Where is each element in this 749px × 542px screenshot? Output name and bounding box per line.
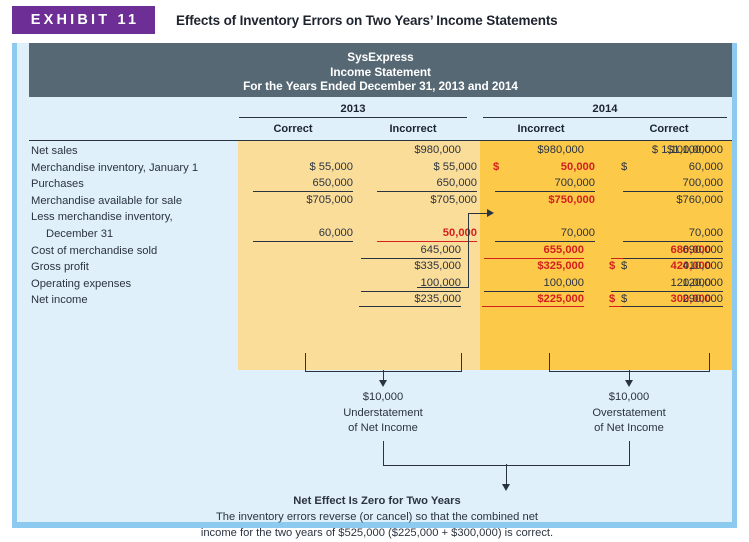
value-2014-correct-avail: $760,000 — [615, 193, 723, 210]
value-2013-correct-inv-jan1: $ 55,000 — [245, 160, 353, 177]
blank-cell — [245, 243, 353, 260]
row-label: Net income — [31, 292, 236, 309]
net-effect-note: Net Effect Is Zero for Two Years The inv… — [112, 493, 642, 542]
company-name: SysExpress — [29, 50, 732, 65]
value-2014-correct-gross-profit: $410,000 — [615, 259, 723, 276]
value-2013-correct-inv-dec31: 60,000 — [245, 226, 353, 243]
row-label: Less merchandise inventory, — [31, 209, 236, 226]
column-header-rule — [29, 140, 732, 141]
value-2014-incorrect-avail: $750,000 — [487, 193, 595, 210]
value-2013-incorrect-inv-jan1: $ 55,000 — [369, 160, 477, 177]
blank-cell — [369, 243, 477, 260]
value-2014-correct-purchases: 700,000 — [615, 176, 723, 193]
currency-symbol: $ — [621, 259, 627, 274]
exhibit-panel-inner: SysExpress Income Statement For the Year… — [17, 43, 732, 522]
numbers-2014-correct-inner: $1,100,000 $60,000 700,000 $760,000 70,0… — [615, 143, 723, 309]
row-label: Merchandise available for sale — [31, 193, 236, 210]
row-label: Merchandise inventory, January 1 — [31, 160, 236, 177]
row-label-column: Net sales Merchandise inventory, January… — [31, 143, 236, 309]
caption-overstatement: $10,000 Overstatement of Net Income — [544, 390, 714, 437]
caption-amount: $10,000 — [298, 390, 468, 406]
bracket-net-effect-left-leg — [383, 441, 384, 465]
value-2014-correct-inv-dec31: 70,000 — [615, 226, 723, 243]
row-label: Cost of merchandise sold — [31, 243, 236, 260]
amount: 60,000 — [689, 161, 723, 173]
value-2013-correct-purchases: 650,000 — [245, 176, 353, 193]
arrow-down-icon — [625, 380, 633, 387]
value-2014-correct-net-sales: $1,100,000 — [615, 143, 723, 160]
exhibit-title-row: EXHIBIT 11 Effects of Inventory Errors o… — [0, 0, 749, 40]
value-2014-incorrect-purchases: 700,000 — [487, 176, 595, 193]
column-header-2014-incorrect: Incorrect — [483, 123, 599, 140]
value-2013-incorrect-inv-dec31: 50,000 — [369, 226, 477, 243]
amount: 410,000 — [683, 260, 723, 272]
blank-cell — [369, 259, 477, 276]
net-effect-line-1: The inventory errors reverse (or cancel)… — [112, 509, 642, 525]
page-title: Effects of Inventory Errors on Two Years… — [176, 13, 558, 28]
row-label: Operating expenses — [31, 276, 236, 293]
numbers-2013-incorrect-inner: $ 55,000 650,000 $705,000 50,000 — [369, 143, 477, 309]
row-label: Net sales — [31, 143, 236, 160]
blank-cell — [245, 276, 353, 293]
exhibit-badge: EXHIBIT 11 — [12, 6, 155, 34]
blank-cell — [369, 276, 477, 293]
column-header-2014-correct: Correct — [611, 123, 727, 140]
arrow-down-icon — [379, 380, 387, 387]
error-carryforward-connector-segment — [417, 287, 469, 288]
row-label: December 31 — [31, 226, 236, 243]
currency-symbol: $ — [493, 160, 499, 175]
amount: 50,000 — [561, 161, 595, 173]
report-name: Income Statement — [29, 65, 732, 80]
blank-cell — [245, 209, 353, 226]
amount: 290,000 — [683, 293, 723, 305]
value-2013-correct-avail: $705,000 — [245, 193, 353, 210]
caption-amount: $10,000 — [544, 390, 714, 406]
currency-symbol: $ — [621, 292, 627, 307]
row-label: Purchases — [31, 176, 236, 193]
year-header-2013: 2013 — [239, 103, 467, 118]
arrow-right-icon — [487, 209, 494, 217]
numbers-2013-correct-inner: $ 55,000 650,000 $705,000 60,000 — [245, 143, 353, 309]
caption-line-3: of Net Income — [298, 421, 468, 437]
value-2014-correct-op-exp: 120,000 — [615, 276, 723, 293]
blank-cell — [487, 243, 595, 260]
bracket-2013-right-leg — [461, 353, 462, 371]
column-header-2013-correct: Correct — [239, 123, 347, 140]
currency-symbol: $ — [621, 160, 627, 175]
value-2013-incorrect-purchases: 650,000 — [369, 176, 477, 193]
numbers-2014-incorrect-inner: $50,000 700,000 $750,000 70,000 — [487, 143, 595, 309]
blank-cell — [615, 209, 723, 226]
error-carryforward-connector-segment — [468, 214, 469, 287]
blank-cell — [245, 292, 353, 309]
value-2014-incorrect-inv-jan1: $50,000 — [487, 160, 595, 177]
bracket-net-effect-stem — [506, 464, 507, 485]
blank-cell — [487, 292, 595, 309]
value-2014-correct-cogs: 690,000 — [615, 243, 723, 260]
caption-understatement: $10,000 Understatement of Net Income — [298, 390, 468, 437]
exhibit-panel: SysExpress Income Statement For the Year… — [12, 43, 737, 528]
caption-line-2: Overstatement — [544, 406, 714, 422]
bracket-2013-left-leg — [305, 353, 306, 371]
report-period: For the Years Ended December 31, 2013 an… — [29, 79, 732, 94]
blank-cell — [369, 143, 477, 160]
caption-line-3: of Net Income — [544, 421, 714, 437]
blank-cell — [245, 143, 353, 160]
blank-cell — [487, 259, 595, 276]
blank-cell — [487, 276, 595, 293]
bracket-net-effect-right-leg — [629, 441, 630, 465]
value-2014-correct-net-income: $290,000 — [615, 292, 723, 309]
year-header-2014: 2014 — [483, 103, 727, 118]
column-header-2013-incorrect: Incorrect — [359, 123, 467, 140]
value-2014-correct-inv-jan1: $60,000 — [615, 160, 723, 177]
blank-cell — [369, 209, 477, 226]
blank-cell — [487, 209, 595, 226]
arrow-down-icon — [502, 484, 510, 491]
bracket-2014-left-leg — [549, 353, 550, 371]
blank-cell — [487, 143, 595, 160]
statement-header: SysExpress Income Statement For the Year… — [29, 43, 732, 97]
value-2014-incorrect-inv-dec31: 70,000 — [487, 226, 595, 243]
row-label: Gross profit — [31, 259, 236, 276]
blank-cell — [245, 259, 353, 276]
error-carryforward-connector-segment — [468, 213, 488, 214]
caption-line-2: Understatement — [298, 406, 468, 422]
bracket-2014-right-leg — [709, 353, 710, 371]
blank-cell — [369, 292, 477, 309]
net-effect-heading: Net Effect Is Zero for Two Years — [112, 493, 642, 509]
value-2013-incorrect-avail: $705,000 — [369, 193, 477, 210]
